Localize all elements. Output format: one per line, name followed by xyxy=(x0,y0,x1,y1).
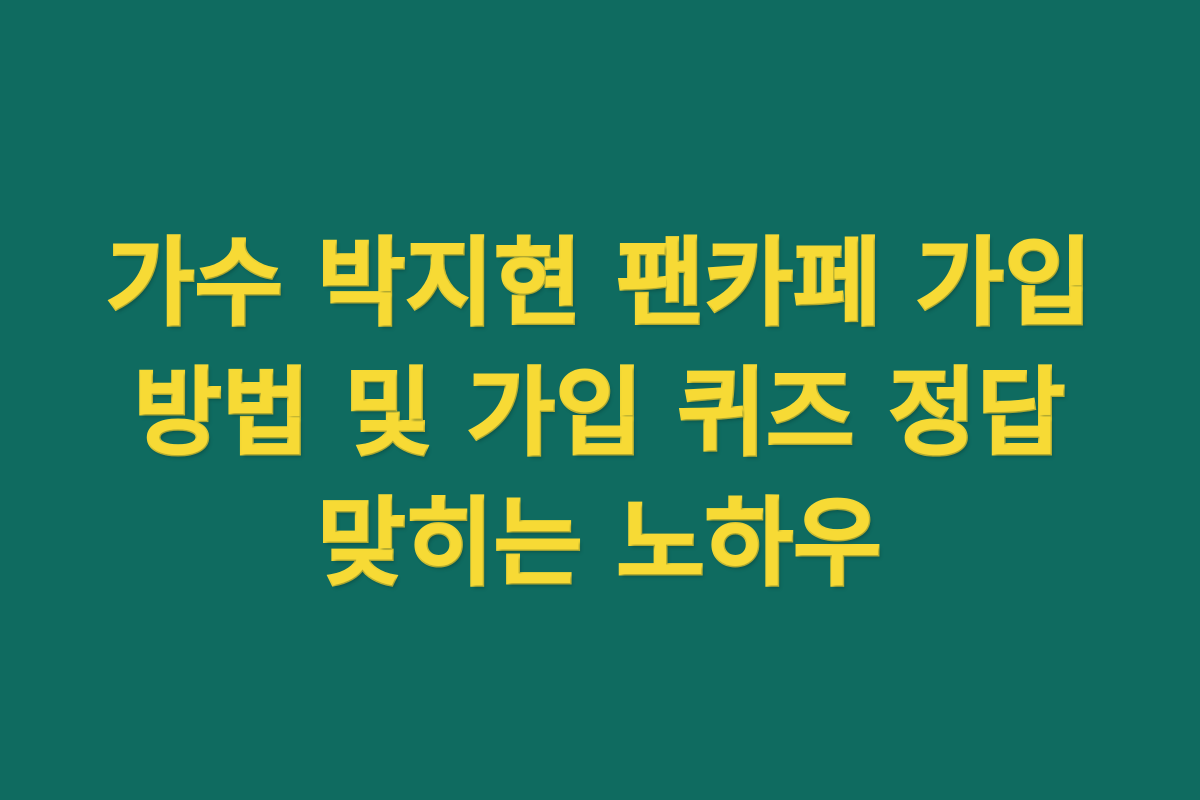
title-line-2: 방법 및 가입 퀴즈 정답 xyxy=(60,349,1140,479)
title-line-1: 가수 박지현 팬카페 가입 xyxy=(60,219,1140,349)
thumbnail-canvas: 가수 박지현 팬카페 가입 방법 및 가입 퀴즈 정답 맞히는 노하우 xyxy=(0,0,1200,800)
title-block: 가수 박지현 팬카페 가입 방법 및 가입 퀴즈 정답 맞히는 노하우 xyxy=(50,219,1150,609)
title-line-3: 맞히는 노하우 xyxy=(60,479,1140,609)
